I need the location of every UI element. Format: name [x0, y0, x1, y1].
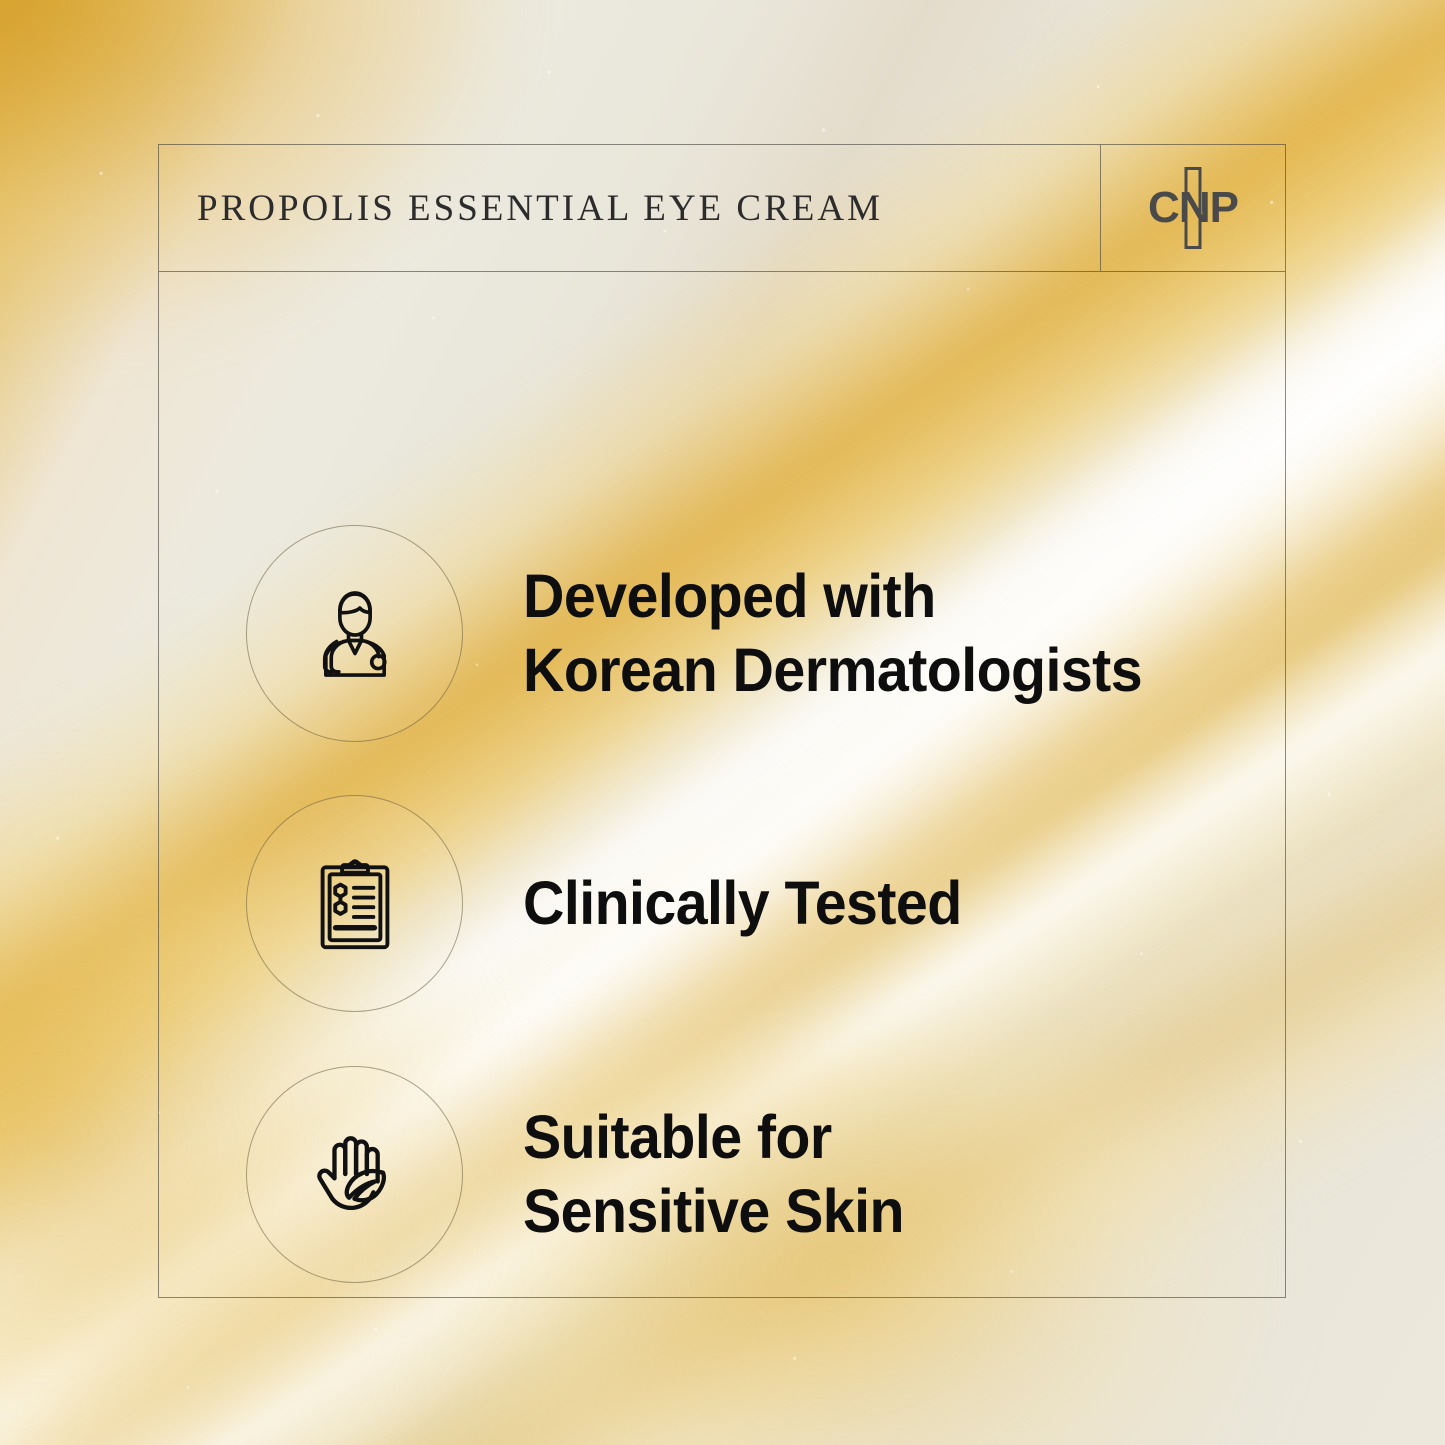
- clipboard-lab-report-icon: [301, 850, 409, 958]
- cnp-logo-bar-icon: [1185, 167, 1202, 249]
- page-title: PROPOLIS ESSENTIAL EYE CREAM: [197, 187, 883, 230]
- feature-item-clinically-tested: Clinically Tested: [246, 795, 990, 1012]
- cnp-logo: CNP: [1148, 186, 1238, 230]
- feature-list: Developed with Korean Dermatologists: [159, 272, 1285, 1297]
- feature-label: Suitable for Sensitive Skin: [523, 1101, 904, 1247]
- feature-icon-circle: [246, 1066, 463, 1283]
- hand-leaf-icon: [301, 1121, 409, 1229]
- content-frame: PROPOLIS ESSENTIAL EYE CREAM CNP: [158, 144, 1286, 1298]
- feature-label: Clinically Tested: [523, 867, 962, 940]
- feature-icon-circle: [246, 795, 463, 1012]
- feature-item-developed-with-korean-dermatologists: Developed with Korean Dermatologists: [246, 525, 1182, 742]
- frame-header: PROPOLIS ESSENTIAL EYE CREAM CNP: [159, 145, 1285, 272]
- feature-item-suitable-for-sensitive-skin: Suitable for Sensitive Skin: [246, 1066, 928, 1283]
- doctor-stethoscope-icon: [301, 580, 409, 688]
- product-title-cell: PROPOLIS ESSENTIAL EYE CREAM: [159, 145, 1100, 271]
- feature-label: Developed with Korean Dermatologists: [523, 560, 1142, 706]
- brand-logo-cell: CNP: [1100, 145, 1285, 271]
- feature-icon-circle: [246, 525, 463, 742]
- promo-image-canvas: PROPOLIS ESSENTIAL EYE CREAM CNP: [0, 0, 1445, 1445]
